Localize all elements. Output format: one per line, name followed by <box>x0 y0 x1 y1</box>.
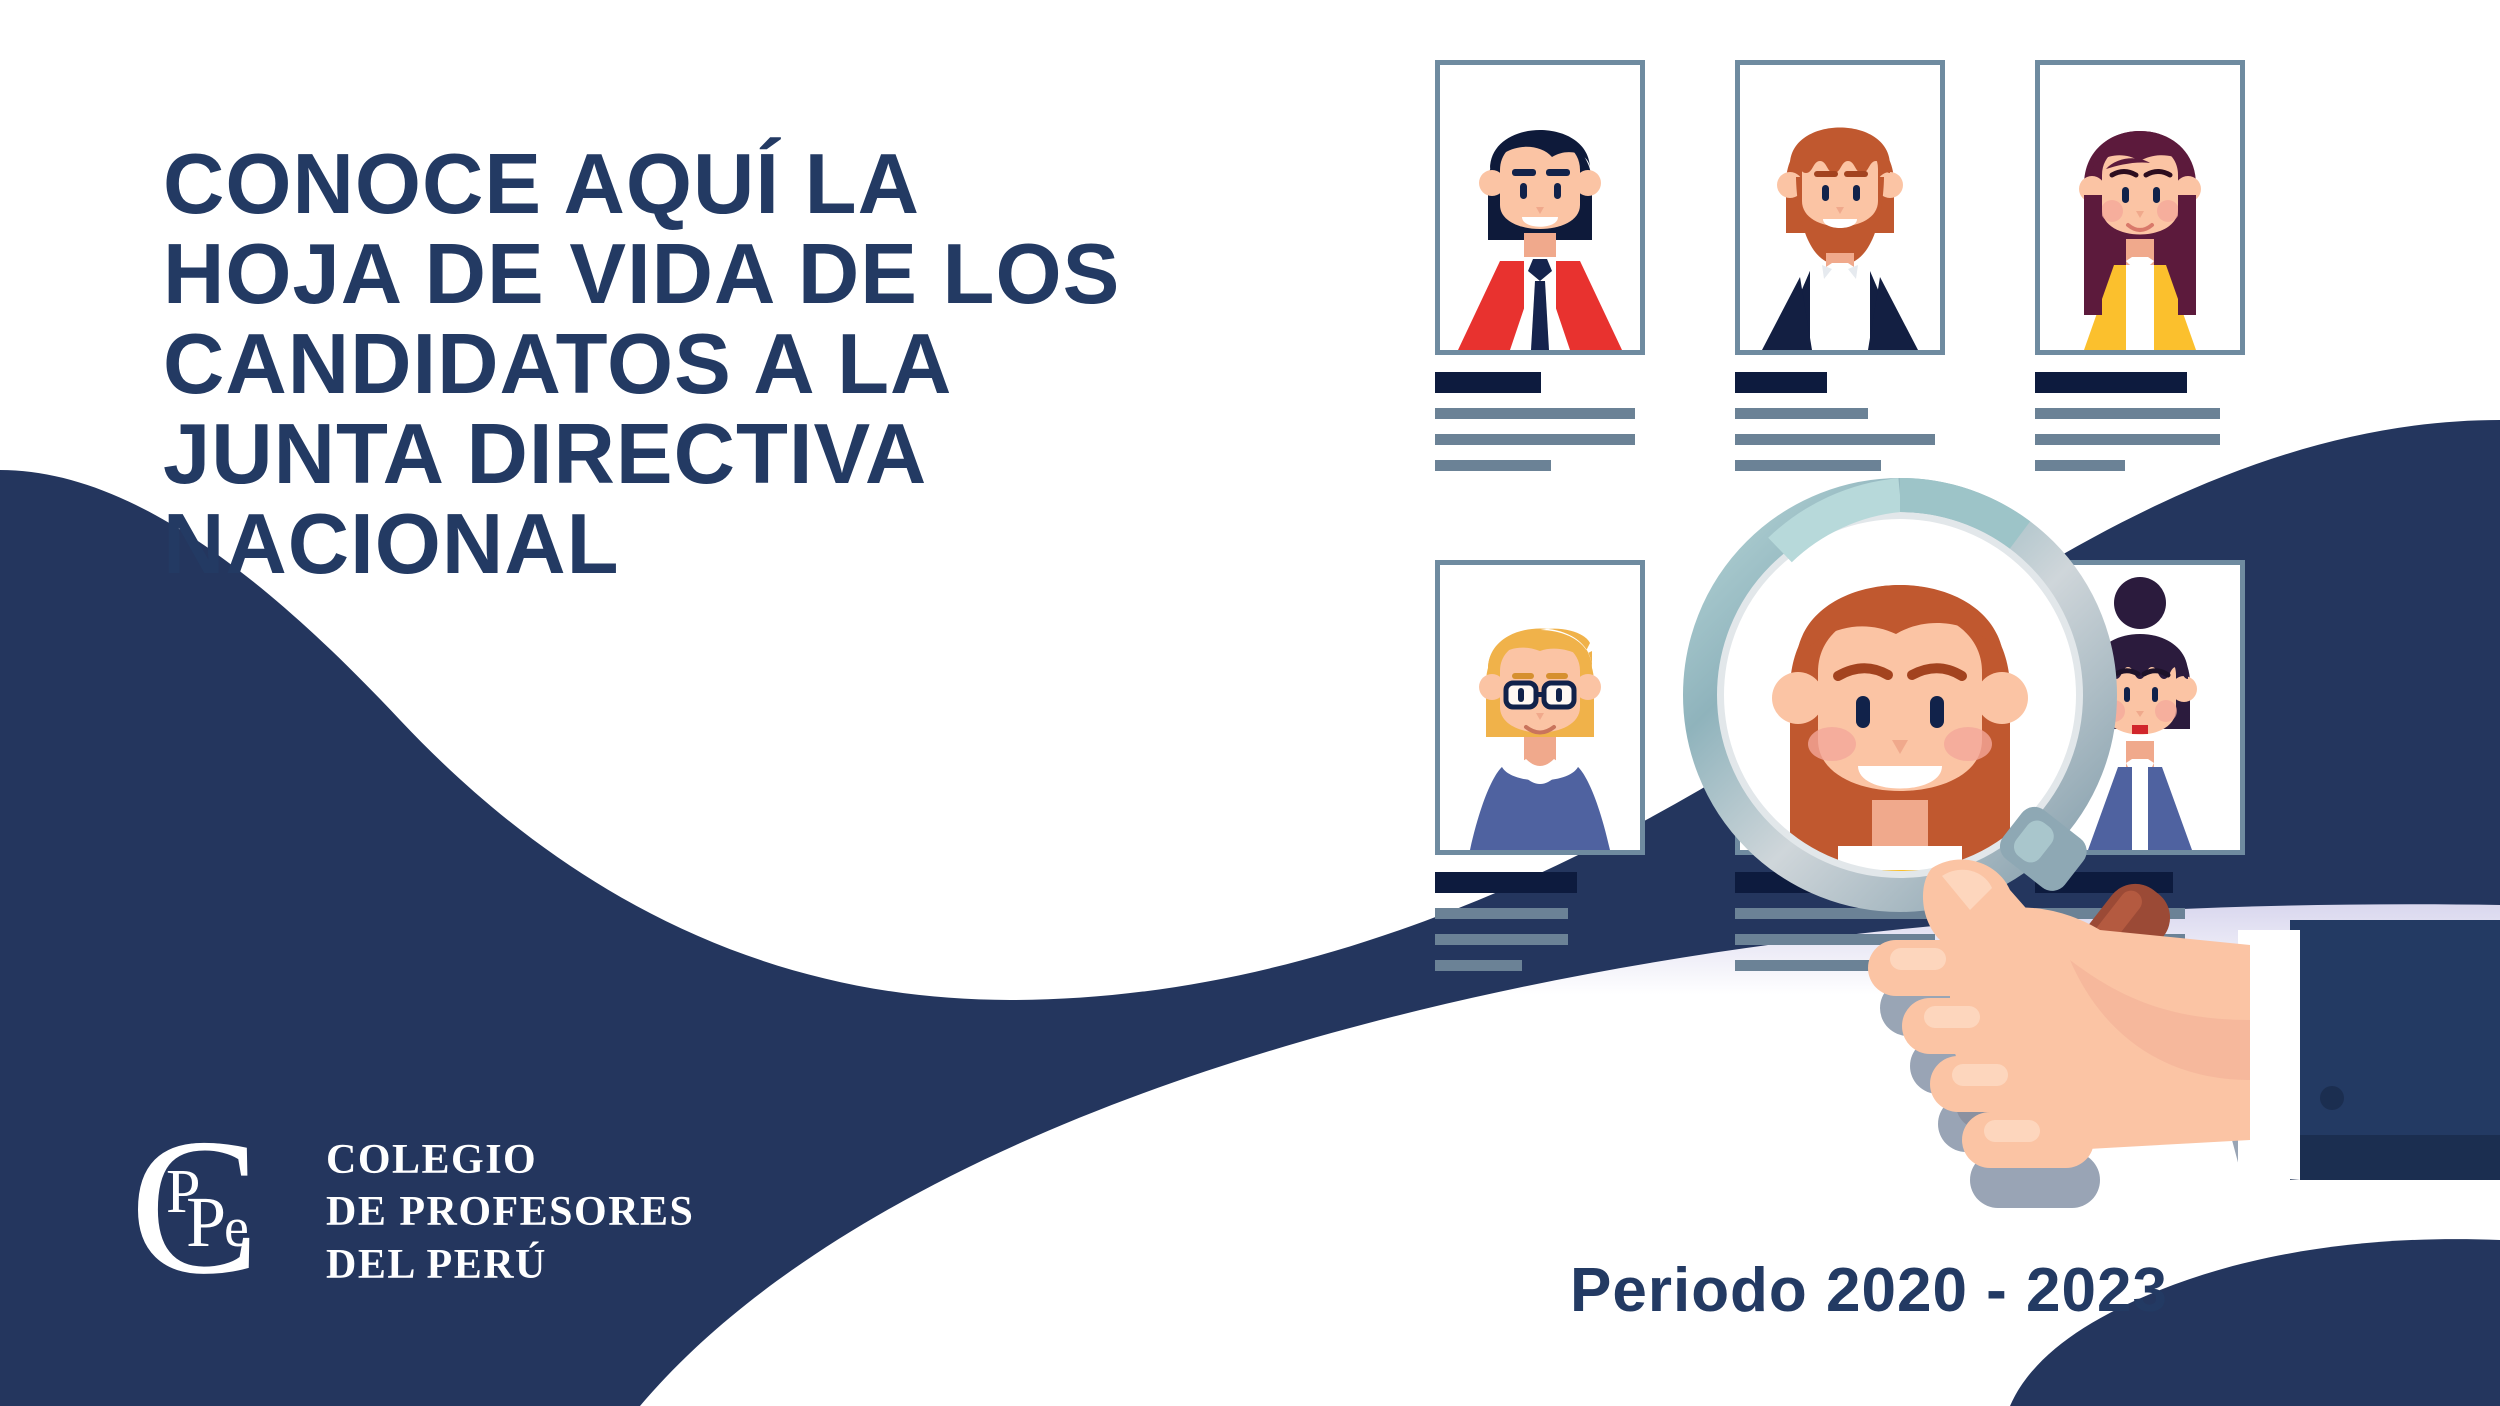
logo[interactable]: C P P e COLEGIO DE PROFESORES DEL PERÚ <box>130 1120 694 1305</box>
cv-title-bar <box>1435 372 1541 393</box>
cv-title-bar <box>1735 372 1827 393</box>
cv-line <box>1435 908 1568 919</box>
cv-line <box>1735 408 1868 419</box>
logo-monogram: C P P e <box>130 1120 300 1305</box>
avatar-man-dark-hair <box>1440 65 1640 350</box>
cv-line <box>2035 408 2220 419</box>
avatar-woman-maroon-hair <box>2040 65 2240 350</box>
logo-letter-p2: P <box>186 1182 226 1262</box>
period-label: Periodo 2020 - 2023 <box>1570 1255 2168 1326</box>
suit-sleeve-shadow <box>2290 1135 2500 1180</box>
cv-title-bar <box>1435 872 1577 893</box>
hand-holding-magnifier <box>1820 780 2500 1250</box>
logo-letter-e: e <box>224 1197 249 1259</box>
cv-card-3[interactable] <box>2035 60 2245 471</box>
logo-wordmark: COLEGIO DE PROFESORES DEL PERÚ <box>326 1134 694 1290</box>
cv-line <box>1435 934 1568 945</box>
cv-line <box>1435 408 1635 419</box>
avatar-man-beard <box>1740 65 1940 350</box>
cv-card-2[interactable] <box>1735 60 1945 471</box>
photo-frame <box>2035 60 2245 355</box>
sleeve-button <box>2320 1086 2344 1110</box>
cv-line <box>1435 460 1551 471</box>
page-title: CONOCE AQUÍ LA HOJA DE VIDA DE LOS CANDI… <box>163 140 1343 590</box>
photo-frame <box>1735 60 1945 355</box>
cv-card-1[interactable] <box>1435 60 1645 471</box>
photo-frame <box>1435 60 1645 355</box>
banner-canvas: CONOCE AQUÍ LA HOJA DE VIDA DE LOS CANDI… <box>0 0 2500 1406</box>
cv-title-bar <box>2035 372 2187 393</box>
cv-line <box>1435 960 1522 971</box>
